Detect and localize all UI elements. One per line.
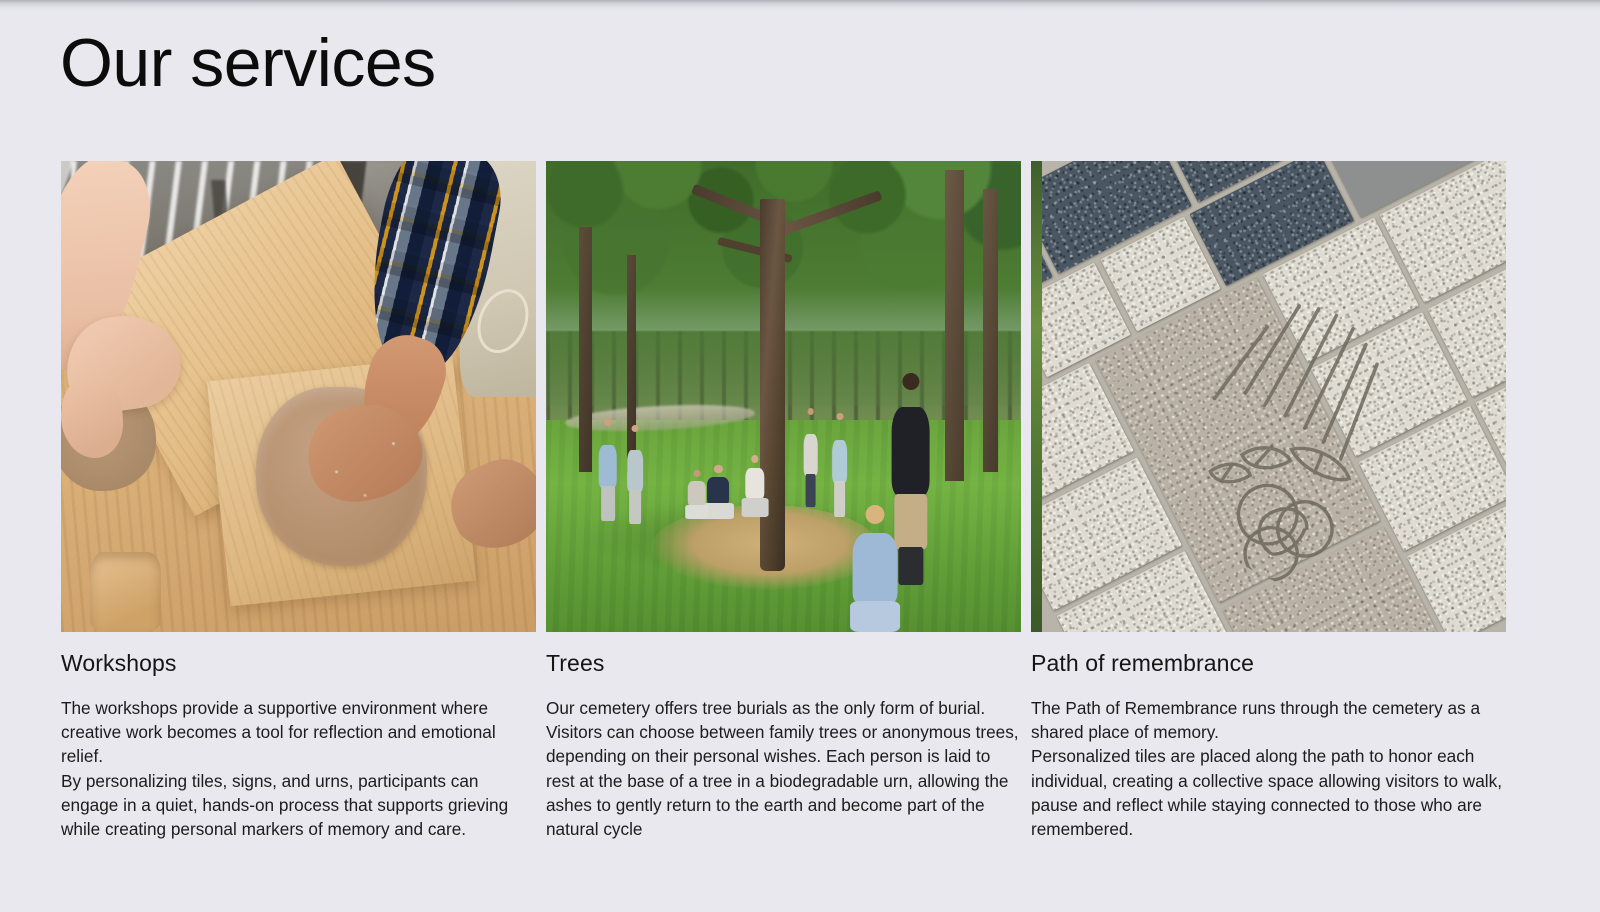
visitor-figure [684, 470, 710, 519]
card-title-trees: Trees [546, 648, 1021, 678]
visitor-figure [624, 425, 646, 524]
clay-workshop-illustration [61, 161, 536, 632]
visitor-figure [800, 408, 821, 507]
service-card-path-of-remembrance[interactable]: Path of remembrance The Path of Remembra… [1031, 161, 1506, 841]
service-card-workshops[interactable]: Workshops The workshops provide a suppor… [61, 161, 536, 841]
visitor-figure [829, 413, 851, 517]
visitor-figure [850, 505, 900, 632]
services-page: Our services [0, 0, 1600, 912]
card-body-workshops: The workshops provide a supportive envir… [61, 696, 536, 841]
card-body-trees: Our cemetery offers tree burials as the … [546, 696, 1021, 841]
grass-edge [1031, 161, 1042, 632]
card-title-workshops: Workshops [61, 648, 536, 678]
card-title-path-of-remembrance: Path of remembrance [1031, 648, 1506, 678]
card-body-path-of-remembrance: The Path of Remembrance runs through the… [1031, 696, 1506, 841]
trees-image [546, 161, 1021, 632]
service-card-trees[interactable]: Trees Our cemetery offers tree burials a… [546, 161, 1021, 841]
page-title: Our services [60, 22, 436, 104]
path-of-remembrance-image [1031, 161, 1506, 632]
park-tree-illustration [546, 161, 1021, 632]
engraved-tiles-illustration [1031, 161, 1506, 632]
visitor-figure [596, 418, 620, 522]
services-card-grid: Workshops The workshops provide a suppor… [61, 161, 1506, 841]
workshops-image [61, 161, 536, 632]
visitor-figure [741, 455, 770, 516]
